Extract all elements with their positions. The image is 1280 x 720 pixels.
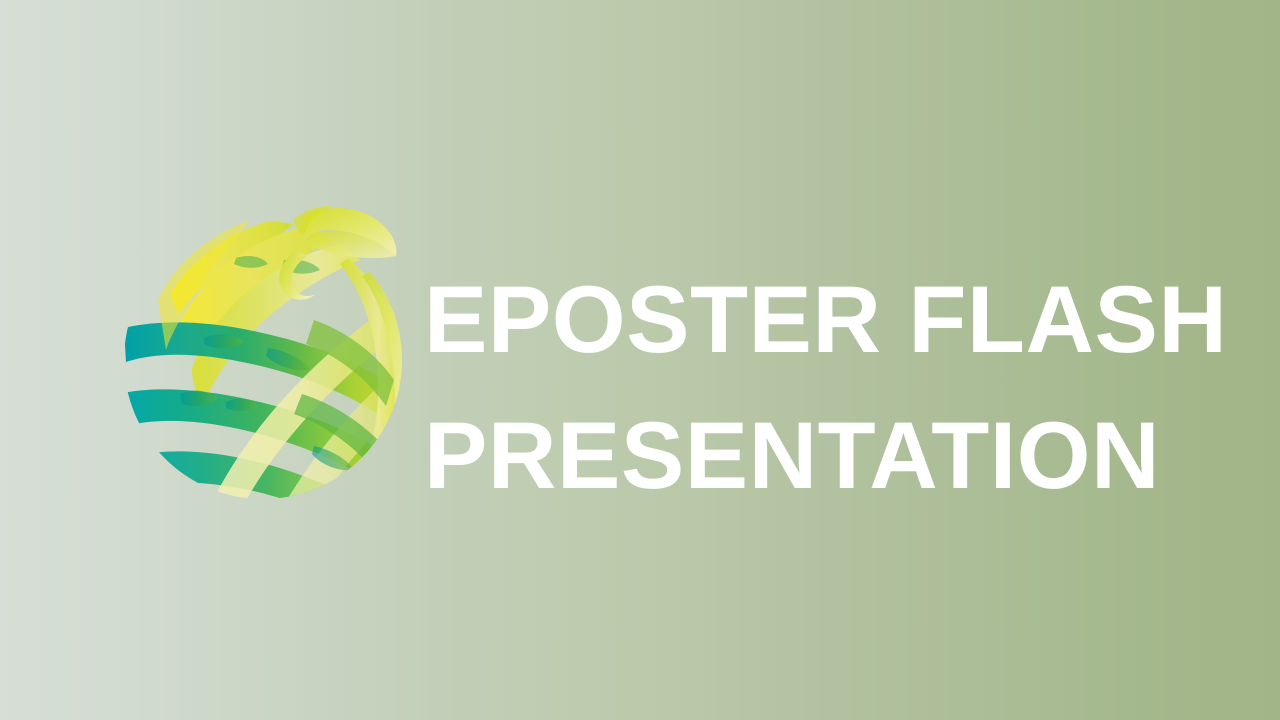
globe-bands (118, 214, 408, 523)
globe-ribbon-leaf-logo (118, 198, 408, 523)
title-line-1: EPOSTER FLASH (424, 252, 1224, 388)
title-line-2: PRESENTATION (424, 388, 1224, 524)
presentation-slide: EPOSTER FLASH PRESENTATION (0, 0, 1280, 720)
page-title: EPOSTER FLASH PRESENTATION (424, 252, 1224, 524)
